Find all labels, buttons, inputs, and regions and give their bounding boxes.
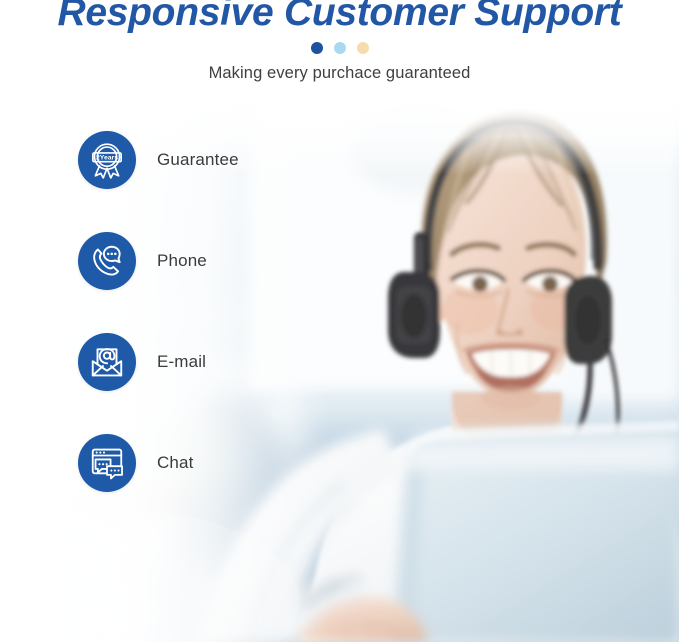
feature-item-guarantee[interactable]: 2Years Guarantee xyxy=(78,131,239,189)
page-title: Responsive Customer Support xyxy=(0,0,679,32)
feature-label-chat: Chat xyxy=(157,453,194,473)
guarantee-badge-icon: 2Years xyxy=(78,131,136,189)
feature-label-email: E-mail xyxy=(157,352,206,372)
feature-item-email[interactable]: E-mail xyxy=(78,333,239,391)
feature-item-chat[interactable]: Chat xyxy=(78,434,239,492)
banner-header: Responsive Customer Support Making every… xyxy=(0,0,679,83)
decorative-dots xyxy=(0,41,679,54)
feature-label-phone: Phone xyxy=(157,251,207,271)
feature-label-guarantee: Guarantee xyxy=(157,150,239,170)
phone-chat-icon xyxy=(78,232,136,290)
dot-2-icon xyxy=(334,42,346,54)
customer-support-banner: Responsive Customer Support Making every… xyxy=(0,0,679,642)
feature-item-phone[interactable]: Phone xyxy=(78,232,239,290)
email-envelope-icon xyxy=(78,333,136,391)
page-subtitle: Making every purchace guaranteed xyxy=(0,64,679,83)
dot-1-icon xyxy=(311,42,323,54)
guarantee-badge-text: 2Years xyxy=(96,155,118,162)
chat-window-icon xyxy=(78,434,136,492)
dot-3-icon xyxy=(357,42,369,54)
support-feature-list: 2Years Guarantee xyxy=(78,131,239,492)
